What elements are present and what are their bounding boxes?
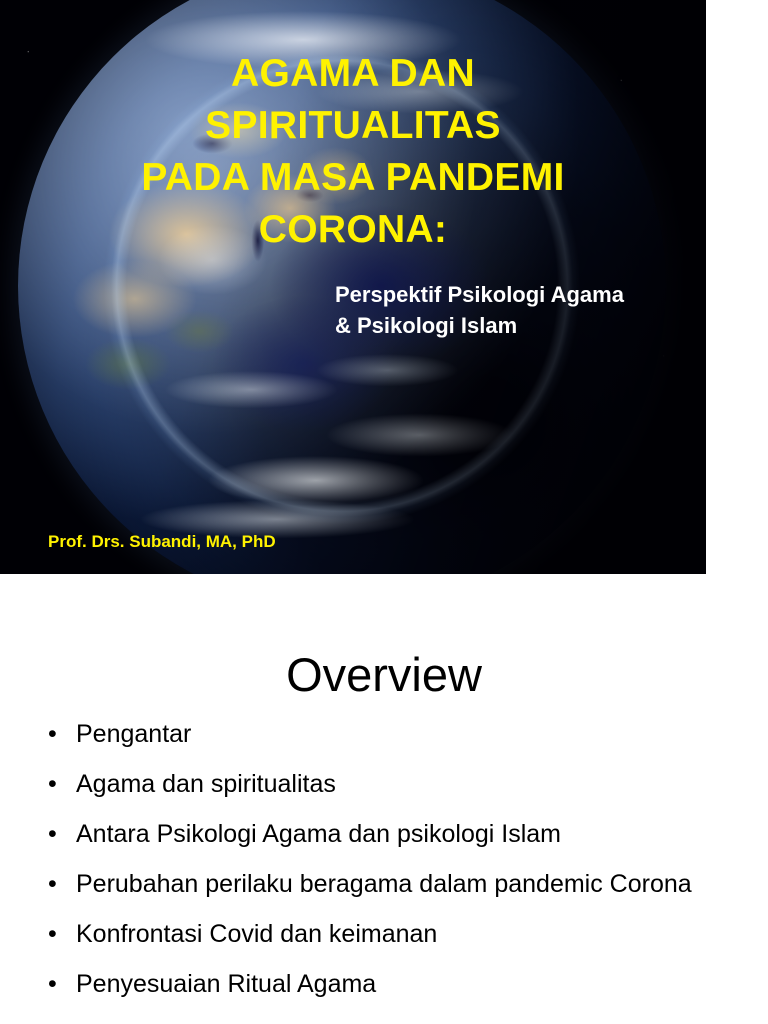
list-item-label: Penyesuaian Ritual Agama	[76, 970, 376, 998]
list-item: • Pengantar	[40, 714, 740, 754]
list-item: • Agama dan kesembuhan pasien Covid	[40, 1014, 740, 1024]
overview-slide: Overview • Pengantar • Agama dan spiritu…	[0, 574, 768, 1024]
list-item-label: Pengantar	[76, 720, 191, 748]
bullet-icon: •	[48, 864, 57, 904]
presentation-subtitle: Perspektif Psikologi Agama & Psikologi I…	[335, 279, 705, 341]
list-item: • Perubahan perilaku beragama dalam pand…	[40, 864, 716, 904]
page-title: Overview	[0, 649, 768, 701]
list-item-label: Agama dan kesembuhan pasien Covid	[76, 1020, 505, 1024]
list-item: • Konfrontasi Covid dan keimanan	[40, 914, 740, 954]
bullet-icon: •	[48, 764, 57, 804]
bullet-icon: •	[48, 914, 57, 954]
list-item: • Penyesuaian Ritual Agama	[40, 964, 740, 1004]
bullet-icon: •	[48, 814, 57, 854]
overview-bullet-list: • Pengantar • Agama dan spiritualitas • …	[40, 714, 740, 1024]
list-item-label: Agama dan spiritualitas	[76, 770, 336, 798]
bullet-icon: •	[48, 1014, 57, 1024]
list-item-label: Konfrontasi Covid dan keimanan	[76, 920, 437, 948]
author-name: Prof. Drs. Subandi, MA, PhD	[48, 532, 276, 552]
subtitle-line-2: & Psikologi Islam	[335, 310, 705, 341]
bullet-icon: •	[48, 714, 57, 754]
title-slide: AGAMA DAN SPIRITUALITAS PADA MASA PANDEM…	[0, 0, 706, 574]
list-item: • Antara Psikologi Agama dan psikologi I…	[40, 814, 740, 854]
subtitle-line-1: Perspektif Psikologi Agama	[335, 279, 705, 310]
bullet-icon: •	[48, 964, 57, 1004]
list-item: • Agama dan spiritualitas	[40, 764, 740, 804]
list-item-label: Antara Psikologi Agama dan psikologi Isl…	[76, 820, 561, 848]
list-item-label: Perubahan perilaku beragama dalam pandem…	[76, 870, 692, 898]
